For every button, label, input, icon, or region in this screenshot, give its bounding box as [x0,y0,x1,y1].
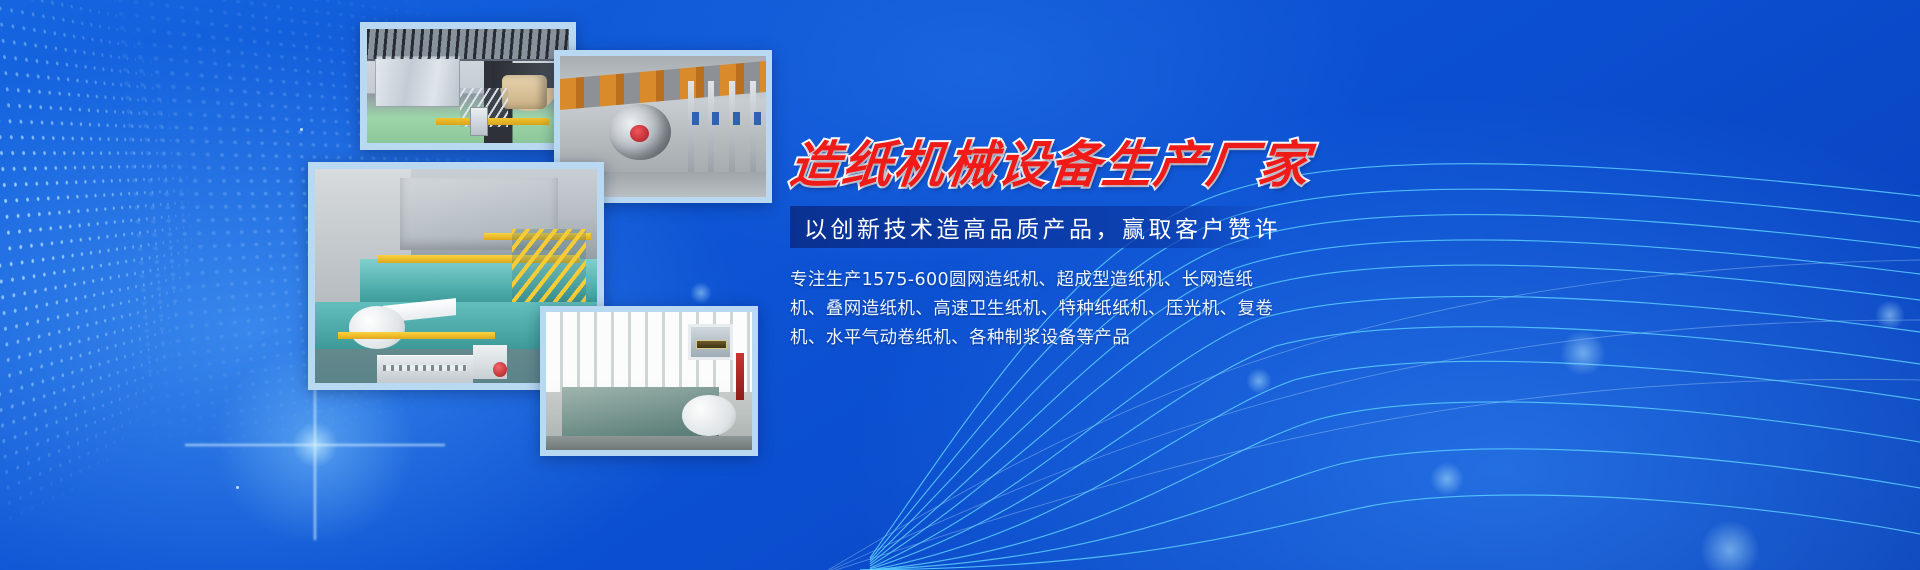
hero-banner: 造纸机械设备生产厂家 以创新技术造高品质产品，赢取客户赞许 专注生产1575-6… [0,0,1920,570]
bokeh-blob [690,282,712,304]
photo-bottom [540,306,758,456]
subtitle-bar: 以创新技术造高品质产品，赢取客户赞许 [790,206,1272,248]
banner-subtitle: 以创新技术造高品质产品，赢取客户赞许 [790,210,1281,244]
spark-dot [300,128,303,131]
photo-top-left-image [367,29,569,143]
banner-text-column: 造纸机械设备生产厂家 以创新技术造高品质产品，赢取客户赞许 专注生产1575-6… [790,140,1290,353]
banner-description: 专注生产1575-600圆网造纸机、超成型造纸机、长网造纸机、叠网造纸机、高速卫… [790,266,1280,353]
photo-bottom-image [546,312,752,450]
spark-dot [236,486,239,489]
photo-top-left [360,22,576,150]
page-title: 造纸机械设备生产厂家 [787,140,1292,190]
